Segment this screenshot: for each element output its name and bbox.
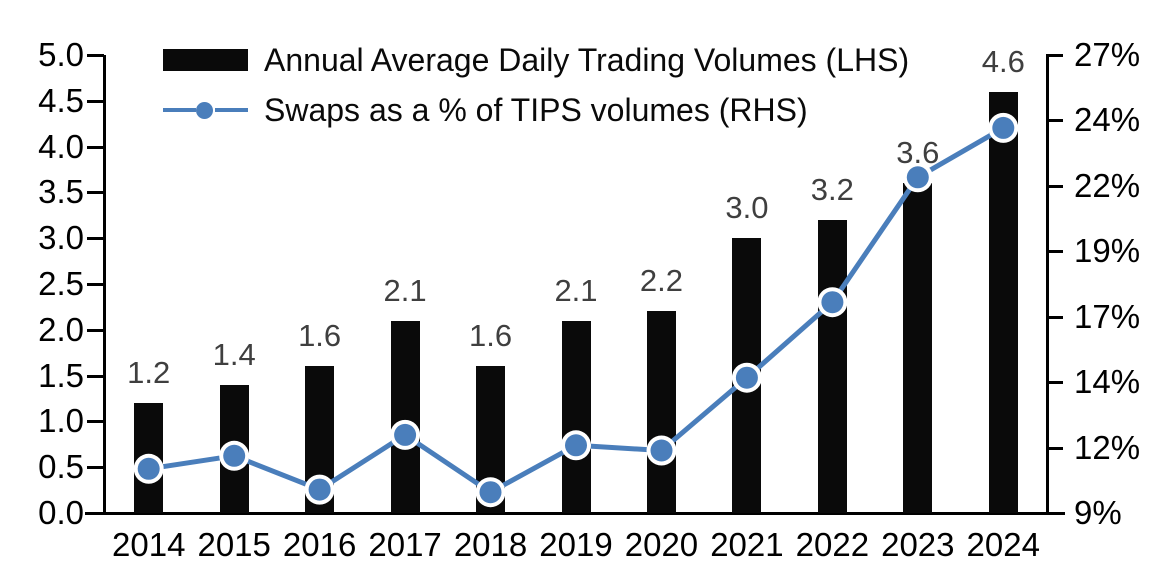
legend-line-segment-right — [215, 108, 248, 112]
left-axis-tick — [87, 512, 104, 515]
left-axis-tick — [87, 54, 104, 57]
line-marker-2014 — [138, 458, 160, 480]
left-axis-tick — [87, 237, 104, 240]
x-axis-label-2019: 2019 — [539, 528, 612, 561]
bar-data-label-2014: 1.2 — [127, 357, 170, 388]
legend-line-marker-swatch-icon — [163, 99, 248, 121]
x-axis-label-2020: 2020 — [625, 528, 698, 561]
x-axis-label-2022: 2022 — [796, 528, 869, 561]
left-axis-tick-label: 0.5 — [38, 450, 84, 483]
left-axis-tick — [87, 329, 104, 332]
right-axis-tick — [1046, 250, 1063, 253]
line-marker-2020 — [651, 440, 673, 462]
left-axis-tick-label: 3.5 — [38, 175, 84, 208]
right-axis-tick-label: 9% — [1074, 496, 1122, 529]
chart-canvas: 5.04.54.03.53.02.52.01.51.00.50.0 27%24%… — [0, 0, 1152, 584]
legend-marker-dot-icon — [196, 102, 213, 119]
line-marker-2018 — [480, 481, 502, 503]
line-series-markers — [134, 113, 1019, 507]
left-axis-tick — [87, 375, 104, 378]
left-axis-tick-label: 4.0 — [38, 130, 84, 163]
bar-data-label-2023: 3.6 — [896, 137, 939, 168]
bar-data-label-2016: 1.6 — [298, 320, 341, 351]
bar-data-label-2019: 2.1 — [554, 275, 597, 306]
right-axis-tick-label: 14% — [1074, 365, 1140, 398]
chart-legend: Annual Average Daily Trading Volumes (LH… — [163, 38, 909, 138]
left-axis-tick — [87, 283, 104, 286]
legend-item-label: Swaps as a % of TIPS volumes (RHS) — [264, 94, 808, 126]
left-axis-tick-label: 2.5 — [38, 267, 84, 300]
legend-item-label: Annual Average Daily Trading Volumes (LH… — [264, 44, 909, 76]
x-axis-label-2024: 2024 — [967, 528, 1040, 561]
right-axis-tick-label: 27% — [1074, 38, 1140, 71]
x-axis-label-2017: 2017 — [368, 528, 441, 561]
bar-data-label-2021: 3.0 — [725, 192, 768, 223]
right-axis-tick — [1046, 316, 1063, 319]
left-axis-tick — [87, 100, 104, 103]
line-marker-2019 — [565, 434, 587, 456]
line-marker-2024 — [992, 117, 1014, 139]
right-axis-tick-label: 19% — [1074, 234, 1140, 267]
legend-bar-swatch-icon — [163, 49, 248, 71]
left-axis-tick-label: 5.0 — [38, 38, 84, 71]
x-axis-label-2015: 2015 — [197, 528, 270, 561]
left-axis-tick — [87, 466, 104, 469]
x-axis-label-2014: 2014 — [112, 528, 185, 561]
bar-data-label-2022: 3.2 — [811, 174, 854, 205]
left-axis-tick-label: 4.5 — [38, 84, 84, 117]
legend-item-bars[interactable]: Annual Average Daily Trading Volumes (LH… — [163, 38, 909, 82]
bar-data-label-2018: 1.6 — [469, 320, 512, 351]
legend-item-line[interactable]: Swaps as a % of TIPS volumes (RHS) — [163, 88, 909, 132]
right-axis-tick-label: 22% — [1074, 169, 1140, 202]
right-axis-tick — [1046, 54, 1063, 57]
legend-line-segment-left — [163, 108, 196, 112]
right-axis-tick — [1046, 447, 1063, 450]
right-axis-tick-label: 24% — [1074, 103, 1140, 136]
right-axis-tick-label: 17% — [1074, 300, 1140, 333]
left-axis-tick — [87, 420, 104, 423]
right-axis-tick — [1046, 381, 1063, 384]
left-axis-tick-label: 0.0 — [38, 496, 84, 529]
left-axis-tick-label: 3.0 — [38, 221, 84, 254]
line-marker-2022 — [821, 291, 843, 313]
bar-data-label-2015: 1.4 — [213, 339, 256, 370]
right-axis-tick-label: 12% — [1074, 431, 1140, 464]
left-axis-tick — [87, 146, 104, 149]
line-marker-2017 — [394, 424, 416, 446]
x-axis-label-2021: 2021 — [710, 528, 783, 561]
left-axis-tick — [87, 191, 104, 194]
right-axis-tick — [1046, 119, 1063, 122]
right-axis-tick — [1046, 185, 1063, 188]
bar-data-label-2020: 2.2 — [640, 265, 683, 296]
line-marker-2021 — [736, 367, 758, 389]
left-axis-tick-label: 1.5 — [38, 359, 84, 392]
x-axis-label-2018: 2018 — [454, 528, 527, 561]
right-axis-tick — [1046, 512, 1063, 515]
line-marker-2016 — [309, 479, 331, 501]
x-axis-label-2023: 2023 — [881, 528, 954, 561]
left-axis-tick-label: 1.0 — [38, 404, 84, 437]
line-marker-2015 — [223, 445, 245, 467]
left-axis-tick-label: 2.0 — [38, 313, 84, 346]
bar-data-label-2017: 2.1 — [384, 275, 427, 306]
x-axis-label-2016: 2016 — [283, 528, 356, 561]
bar-data-label-2024: 4.6 — [982, 46, 1025, 77]
